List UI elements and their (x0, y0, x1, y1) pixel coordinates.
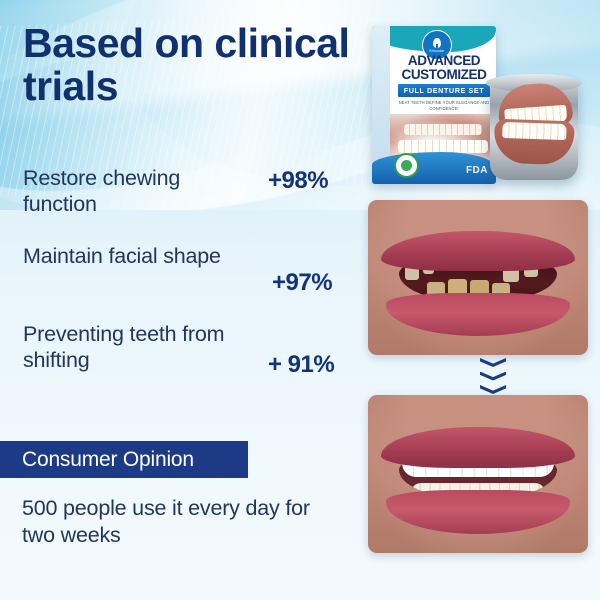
tooth-icon (433, 38, 441, 48)
consumer-opinion-banner: Consumer Opinion (0, 441, 248, 478)
benefit-label: Maintain facial shape (23, 243, 253, 269)
product-title: ADVANCED CUSTOMIZED (392, 54, 496, 82)
benefit-value: + 91% (268, 351, 334, 379)
product-box: Bihoodar ADVANCED CUSTOMIZED FULL DENTUR… (372, 26, 496, 184)
product-subtitle-banner: FULL DENTURE SET (398, 84, 490, 97)
certification-seal-icon (394, 153, 419, 178)
benefit-value: +98% (268, 167, 328, 195)
consumer-opinion-text: 500 people use it every day for two week… (22, 495, 332, 549)
chevron-down-icon (480, 385, 506, 394)
list-item: Maintain facial shape +97% (20, 243, 370, 321)
list-item: Preventing teeth from shifting + 91% (20, 321, 370, 399)
chevron-down-icon (480, 372, 506, 381)
product-image: Bihoodar ADVANCED CUSTOMIZED FULL DENTUR… (372, 20, 594, 198)
benefit-label: Restore chewing function (23, 165, 253, 217)
denture-tin (484, 58, 584, 184)
denture-upper-row (404, 124, 482, 135)
benefit-label: Preventing teeth from shifting (23, 321, 253, 373)
benefits-list: Restore chewing function +98% Maintain f… (20, 165, 370, 399)
ad-creative: Based on clinical trials Restore chewing… (0, 0, 600, 600)
chevron-down-icon (480, 358, 506, 367)
product-subtitle: FULL DENTURE SET (404, 86, 485, 95)
brand-name: Bihoodar (429, 49, 444, 53)
after-photo (368, 395, 588, 553)
before-photo (368, 200, 588, 355)
transition-arrows (468, 358, 518, 394)
consumer-opinion-label: Consumer Opinion (0, 448, 194, 472)
page-title: Based on clinical trials (23, 22, 368, 108)
list-item: Restore chewing function +98% (20, 165, 370, 243)
benefit-value: +97% (272, 269, 332, 297)
product-fine-print: NEAT TEETH DEFINE YOUR ELEGANCE AND CONF… (396, 100, 492, 112)
